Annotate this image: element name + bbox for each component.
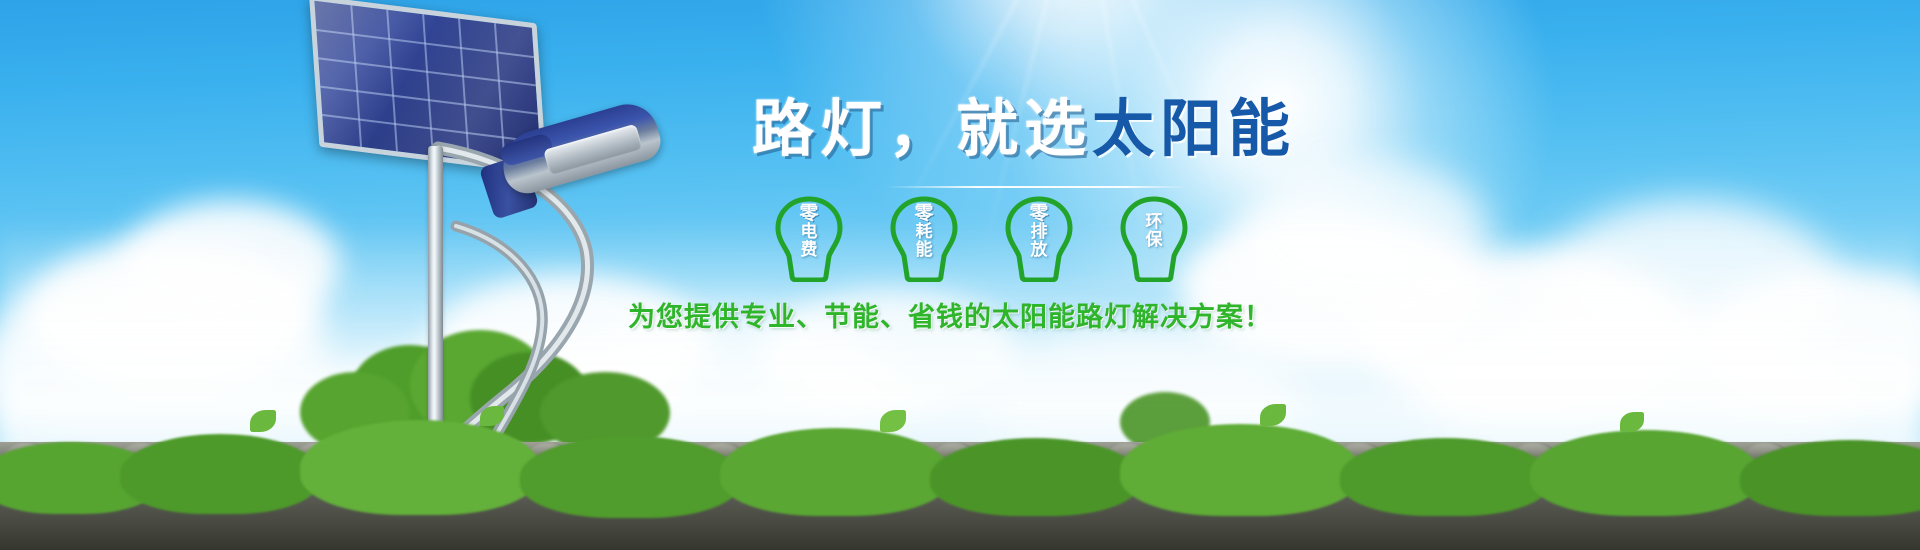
badge-number: 零 [772, 204, 846, 224]
headline-part-white: 路灯，就选 [752, 92, 1092, 165]
feature-badge-haoneng: 零 耗 能 [887, 196, 961, 282]
badge-number: 零 [1002, 204, 1076, 224]
badge-number: 零 [887, 204, 961, 224]
hero-banner: 路灯，就选太阳能 零 电 费 零 耗 [0, 0, 1920, 550]
badge-line-2: 保 [1117, 232, 1191, 250]
feature-badge-dianfei: 零 电 费 [772, 196, 846, 282]
feature-badge-list: 零 电 费 零 耗 能 零 [772, 196, 1192, 282]
badge-text: 环 保 [1117, 214, 1191, 250]
badge-text: 零 电 费 [772, 204, 846, 260]
feature-badge-huanbao: 环 保 [1117, 196, 1191, 282]
banner-content: 路灯，就选太阳能 零 电 费 零 耗 [0, 0, 1920, 550]
badge-text: 零 排 放 [1002, 204, 1076, 260]
title-divider [886, 186, 1186, 188]
page-title: 路灯，就选太阳能 [752, 98, 1296, 160]
badge-text: 零 耗 能 [887, 204, 961, 260]
badge-line-2: 能 [887, 242, 961, 260]
headline-part-blue: 太阳能 [1092, 92, 1296, 165]
badge-line-2: 费 [772, 242, 846, 260]
feature-badge-paifang: 零 排 放 [1002, 196, 1076, 282]
badge-line-2: 放 [1002, 242, 1076, 260]
page-subtitle: 为您提供专业、节能、省钱的太阳能路灯解决方案！ [628, 295, 1272, 334]
